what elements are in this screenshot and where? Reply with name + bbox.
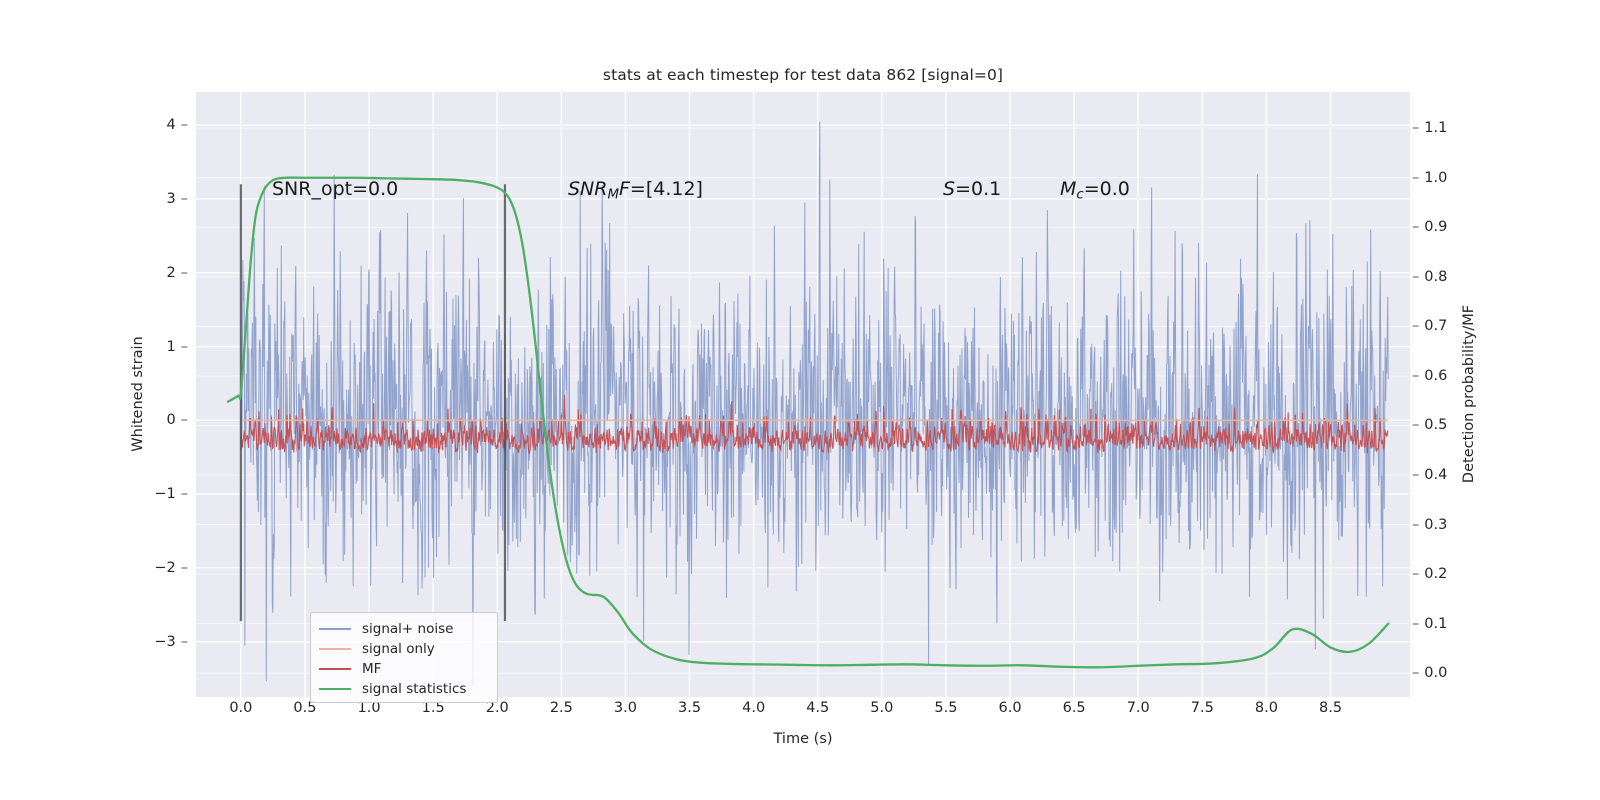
legend-item[interactable]: signal+ noise xyxy=(319,619,489,639)
y-axis-right-tick: –0.3 xyxy=(1412,517,1447,533)
x-axis-tick: 6.5 xyxy=(1063,700,1086,716)
y-axis-right-tick: –0.1 xyxy=(1412,616,1447,632)
x-axis-tick: 4.5 xyxy=(806,700,829,716)
legend-label: signal statistics xyxy=(362,681,466,697)
y-axis-left-tick: 1– xyxy=(167,339,188,355)
y-axis-right-tick: –1.0 xyxy=(1412,170,1447,186)
legend-label: signal only xyxy=(362,641,435,657)
legend-item[interactable]: signal only xyxy=(319,639,489,659)
x-axis-tick: 8.0 xyxy=(1255,700,1278,716)
x-axis-label: Time (s) xyxy=(774,731,833,747)
x-axis-tick: 2.5 xyxy=(550,700,573,716)
legend-item[interactable]: signal statistics xyxy=(319,679,489,699)
legend-box: signal+ noisesignal onlyMFsignal statist… xyxy=(310,612,498,703)
x-axis-tick: 7.5 xyxy=(1191,700,1214,716)
y-axis-right-tick: –0.6 xyxy=(1412,368,1447,384)
page-title: stats at each timestep for test data 862… xyxy=(196,66,1410,84)
y-axis-right-tick: –0.0 xyxy=(1412,665,1447,681)
y-axis-right-tick: –0.2 xyxy=(1412,566,1447,582)
x-axis-tick: 6.0 xyxy=(999,700,1022,716)
x-axis-tick: 5.0 xyxy=(870,700,893,716)
legend-item[interactable]: MF xyxy=(319,659,489,679)
y-axis-left-tick: 0– xyxy=(167,412,188,428)
x-axis-tick: 4.0 xyxy=(742,700,765,716)
annotation-mc-value: Mc=0.0 xyxy=(1060,178,1130,202)
figure-canvas: stats at each timestep for test data 862… xyxy=(0,0,1600,800)
y-axis-left-tick: 2– xyxy=(167,265,188,281)
legend-color-swatch xyxy=(319,628,351,630)
y-axis-left-tick: −2– xyxy=(154,560,188,576)
y-axis-right-tick: –0.8 xyxy=(1412,269,1447,285)
y-axis-right-tick: –0.5 xyxy=(1412,417,1447,433)
x-axis-tick: 3.0 xyxy=(614,700,637,716)
x-axis-tick: 7.0 xyxy=(1127,700,1150,716)
x-axis-tick: 5.5 xyxy=(934,700,957,716)
legend-color-swatch xyxy=(319,688,351,690)
y-axis-left-tick: 3– xyxy=(167,191,188,207)
x-axis-tick: 3.5 xyxy=(678,700,701,716)
y-axis-right-tick: –0.7 xyxy=(1412,318,1447,334)
annotation-snr-mf: SNRMF=[4.12] xyxy=(568,178,703,202)
legend-color-swatch xyxy=(319,668,351,670)
annotation-snr-opt: SNR_opt=0.0 xyxy=(272,178,398,200)
y-axis-right-tick: –1.1 xyxy=(1412,120,1447,136)
y-axis-right-tick: –0.9 xyxy=(1412,219,1447,235)
signal-noise-series xyxy=(241,122,1388,686)
legend-label: signal+ noise xyxy=(362,621,453,637)
y-axis-left-tick: −3– xyxy=(154,634,188,650)
y-axis-right-label: Detection probability/MF xyxy=(1461,305,1477,483)
y-axis-left-label: Whitened strain xyxy=(130,336,146,451)
x-axis-tick: 8.5 xyxy=(1319,700,1342,716)
x-axis-tick: 0.0 xyxy=(229,700,252,716)
legend-label: MF xyxy=(362,661,381,677)
annotation-s-value: S=0.1 xyxy=(943,178,1001,200)
legend-color-swatch xyxy=(319,648,351,650)
y-axis-left-tick: 4– xyxy=(167,117,188,133)
y-axis-left-tick: −1– xyxy=(154,486,188,502)
y-axis-right-tick: –0.4 xyxy=(1412,467,1447,483)
